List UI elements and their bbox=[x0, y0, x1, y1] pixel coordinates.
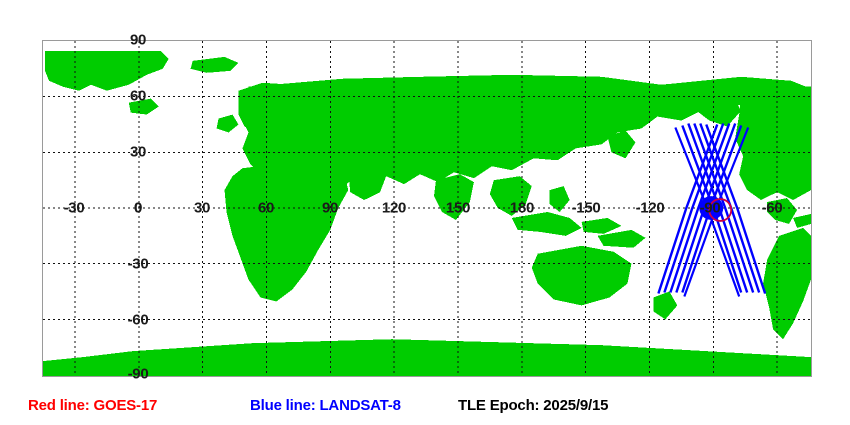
lon-tick--90: -90 bbox=[700, 201, 721, 216]
lon-tick-60: 60 bbox=[258, 201, 274, 216]
legend-tle-epoch: TLE Epoch: 2025/9/15 bbox=[458, 398, 608, 413]
lon-tick-30: 30 bbox=[194, 201, 210, 216]
lon-tick-180: 180 bbox=[510, 201, 534, 216]
lon-tick-150: 150 bbox=[446, 201, 470, 216]
lat-tick--30: -30 bbox=[128, 257, 149, 272]
map-clip bbox=[43, 41, 811, 376]
lat-tick--60: -60 bbox=[128, 313, 149, 328]
lon-tick--60: -60 bbox=[762, 201, 783, 216]
map-plot-area[interactable] bbox=[42, 40, 812, 377]
lat-tick-60: 60 bbox=[130, 89, 146, 104]
landsat8-groundtrack-layer bbox=[43, 41, 811, 376]
legend-red-line-goes17: Red line: GOES-17 bbox=[28, 398, 157, 413]
satellite-track-map-page: -30 0 30 60 90 120 150 180 -150 -120 -90… bbox=[0, 0, 850, 425]
lon-tick-120: 120 bbox=[382, 201, 406, 216]
lat-tick--90: -90 bbox=[128, 367, 149, 382]
legend: Red line: GOES-17 Blue line: LANDSAT-8 T… bbox=[0, 396, 850, 420]
lon-tick-90: 90 bbox=[322, 201, 338, 216]
lon-tick--120: -120 bbox=[636, 201, 665, 216]
lat-tick-90: 90 bbox=[130, 33, 146, 48]
lat-tick-30: 30 bbox=[130, 145, 146, 160]
legend-blue-line-landsat8: Blue line: LANDSAT-8 bbox=[250, 398, 401, 413]
lon-tick--30: -30 bbox=[64, 201, 85, 216]
lat-tick-0: 0 bbox=[134, 201, 142, 216]
lon-tick--150: -150 bbox=[572, 201, 601, 216]
